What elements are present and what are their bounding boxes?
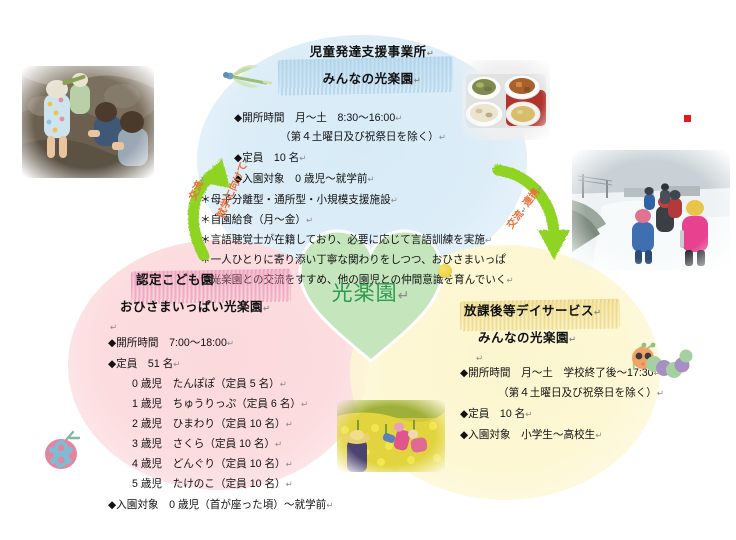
return-mark: ↵ xyxy=(286,459,293,469)
left-line-0: ◆開所時間 7:00～18:00 xyxy=(108,337,227,349)
return-mark: ↵ xyxy=(594,307,602,317)
left-class-2: 2 歳児 ひまわり（定員 10 名） xyxy=(132,418,286,430)
class-row-0: 0 歳児 たんぽぽ（定員 5 名）↵ xyxy=(108,377,388,392)
return-mark-left: ↵ xyxy=(108,321,388,333)
left-target: ◆入園対象 0 歳児（首が座った頃）～就学前 xyxy=(108,499,326,511)
ladybug-icon xyxy=(40,428,86,476)
class-row-1: 1 歳児 ちゅうりっぷ（定員 6 名）↵ xyxy=(108,397,388,412)
left-line-1: ◆定員 51 名 xyxy=(108,358,173,370)
right-section-name: 放課後等デイサービス xyxy=(464,304,594,318)
return-mark: ↵ xyxy=(286,419,293,429)
top-line-except-row: （第４土曜日及び祝祭日を除く）↵ xyxy=(200,130,530,145)
return-mark: ↵ xyxy=(263,303,271,313)
class-row-2: 2 歳児 ひまわり（定員 10 名）↵ xyxy=(108,417,388,432)
right-line-3: ◆入園対象 小学生～高校生 xyxy=(460,429,595,441)
children-walking-in-snow-photo xyxy=(572,150,730,270)
return-mark: ↵ xyxy=(173,359,180,369)
left-target-row: ◆入園対象 0 歳児（首が座った頃）～就学前↵ xyxy=(108,498,388,513)
class-row-3: 3 歳児 さくら（定員 10 名）↵ xyxy=(108,437,388,452)
return-mark: ↵ xyxy=(299,153,306,163)
left-section-subname: おひさまいっぱい光楽園 xyxy=(120,300,263,314)
children-playing-outdoors-photo xyxy=(22,66,154,178)
return-mark: ↵ xyxy=(368,174,375,184)
return-mark: ↵ xyxy=(525,409,532,419)
return-mark: ↵ xyxy=(439,132,446,142)
left-class-3: 3 歳児 さくら（定員 10 名） xyxy=(132,438,275,450)
class-row-5: 5 歳児 たけのこ（定員 10 名）↵ xyxy=(108,477,388,492)
return-mark: ↵ xyxy=(569,334,577,344)
return-mark: ↵ xyxy=(414,75,422,85)
right-line-target-row: ◆入園対象 小学生～高校生↵ xyxy=(440,428,730,443)
return-mark: ↵ xyxy=(275,439,282,449)
class-row-4: 4 歳児 どんぐり（定員 10 名）↵ xyxy=(108,457,388,472)
return-mark: ↵ xyxy=(395,113,402,123)
top-line-0: ◆開所時間 月～土 8:30～16:00 xyxy=(234,112,395,124)
left-class-1: 1 歳児 ちゅうりっぷ（定員 6 名） xyxy=(132,398,301,410)
right-line-capacity-row: ◆定員 10 名↵ xyxy=(440,407,730,422)
return-mark: ↵ xyxy=(306,215,313,225)
return-mark: ↵ xyxy=(286,479,293,489)
return-mark: ↵ xyxy=(326,500,333,510)
heart-label: 光楽園↵ xyxy=(296,277,446,307)
left-class-4: 4 歳児 どんぐり（定員 10 名） xyxy=(132,458,286,470)
return-mark: ↵ xyxy=(427,48,435,58)
return-mark: ↵ xyxy=(391,195,398,205)
section-certified-kodomoen: 認定こども園↵ おひさまいっぱい光楽園↵ ↵ ◆開所時間 7:00～18:00↵… xyxy=(108,272,388,513)
return-mark: ↵ xyxy=(214,276,222,286)
yellow-dot-icon xyxy=(438,264,452,278)
return-mark: ↵ xyxy=(506,275,513,285)
right-section-subname: みんなの光楽園 xyxy=(478,331,569,345)
return-mark: ↵ xyxy=(398,287,411,303)
top-section-name: 児童発達支援事業所 xyxy=(310,45,427,59)
left-line-capacity-row: ◆定員 51 名↵ xyxy=(108,357,388,372)
heart-label-text: 光楽園 xyxy=(332,282,398,305)
left-section-name: 認定こども園 xyxy=(136,273,214,287)
right-line-0: ◆開所時間 月～土 学校終了後～17:30 xyxy=(460,367,654,379)
return-mark: ↵ xyxy=(595,430,602,440)
arrow-right-cooperation xyxy=(492,160,582,268)
return-mark: ↵ xyxy=(301,399,308,409)
right-line-2: ◆定員 10 名 xyxy=(460,408,525,420)
top-section-subname: みんなの光楽園 xyxy=(323,72,414,86)
return-mark: ↵ xyxy=(280,379,287,389)
top-line-hours-row: ◆開所時間 月～土 8:30～16:00↵ xyxy=(200,111,530,126)
red-dot-icon xyxy=(684,115,691,122)
return-mark: ↵ xyxy=(227,338,234,348)
top-line-1: （第４土曜日及び祝祭日を除く） xyxy=(280,131,439,143)
left-class-5: 5 歳児 たけのこ（定員 10 名） xyxy=(132,478,286,490)
left-class-0: 0 歳児 たんぽぽ（定員 5 名） xyxy=(132,378,280,390)
left-line-hours-row: ◆開所時間 7:00～18:00↵ xyxy=(108,336,388,351)
poster-canvas: 光楽園↵ 児童発達支援事業所↵ みんなの光楽園↵ ◆開所時間 月～土 8:30～… xyxy=(0,0,736,540)
